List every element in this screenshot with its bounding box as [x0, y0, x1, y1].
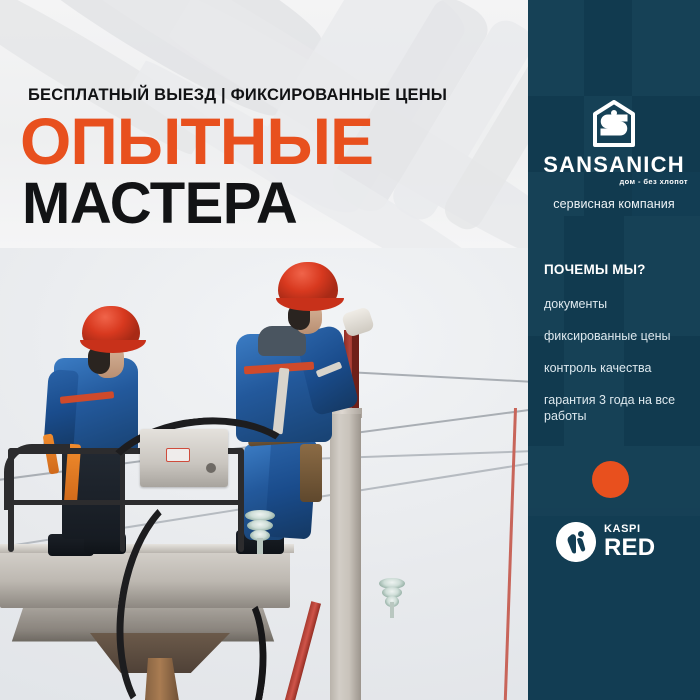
insulator-small [378, 578, 406, 618]
brand-subtitle: сервисная компания [528, 197, 700, 211]
left-column: БЕСПЛАТНЫЙ ВЫЕЗД | ФИКСИРОВАННЫЕ ЦЕНЫ ОП… [0, 0, 528, 700]
brand-sidebar: SANSANICH дом - без хлопот сервисная ком… [528, 0, 700, 700]
control-knob [206, 463, 216, 473]
brand-tagline: дом - без хлопот [528, 177, 700, 186]
promo-headline-line2: МАСТЕРА [22, 175, 297, 233]
concrete-pole [330, 414, 361, 700]
kaspi-figures-icon [556, 522, 596, 562]
benefit-item: фиксированные цены [544, 328, 692, 344]
benefit-item: контроль качества [544, 360, 692, 376]
brand-name: SANSANICH [528, 154, 700, 176]
benefit-item: документы [544, 296, 692, 312]
accent-dot [592, 461, 629, 498]
kaspi-red-logo: KASPI RED [556, 522, 655, 562]
kaspi-brand-big: RED [604, 536, 655, 560]
benefit-item: гарантия 3 года на все работы [544, 392, 692, 424]
insulator-large [245, 510, 275, 552]
benefits-title: ПОЧЕМЫ МЫ? [544, 262, 646, 277]
kaspi-wordmark: KASPI RED [604, 524, 655, 560]
workers-photo [0, 248, 528, 700]
house-with-s-icon [591, 100, 637, 148]
warning-label [166, 448, 190, 462]
advertising-poster: БЕСПЛАТНЫЙ ВЫЕЗД | ФИКСИРОВАННЫЕ ЦЕНЫ ОП… [0, 0, 700, 700]
brand-logo: SANSANICH дом - без хлопот сервисная ком… [528, 100, 700, 211]
promo-headline-line1: ОПЫТНЫЕ [20, 108, 373, 174]
basket-railing-corner [4, 444, 70, 510]
benefits-list: документы фиксированные цены контроль ка… [544, 296, 692, 440]
promo-kicker: БЕСПЛАТНЫЙ ВЫЕЗД | ФИКСИРОВАННЫЕ ЦЕНЫ [28, 86, 447, 105]
